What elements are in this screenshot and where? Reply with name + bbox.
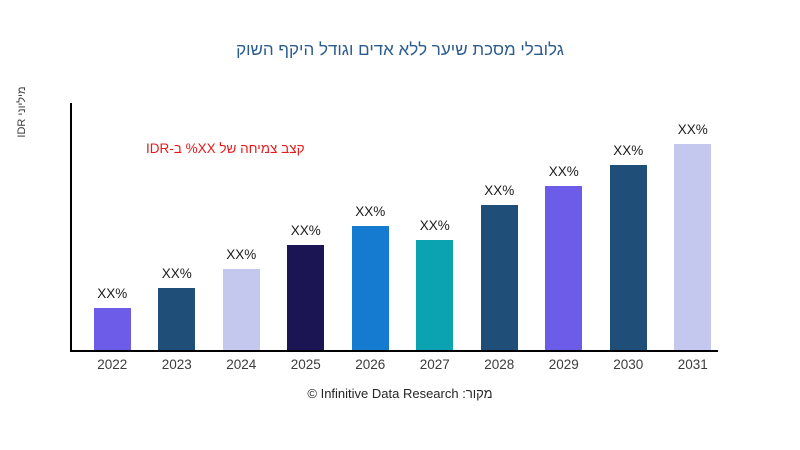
x-tick-2030: 2030: [598, 357, 658, 372]
x-tick-2029: 2029: [534, 357, 594, 372]
x-tick-2028: 2028: [469, 357, 529, 372]
bar-2030: [610, 165, 647, 350]
bar-value-label-2029: XX%: [534, 164, 594, 179]
bar-value-label-2027: XX%: [405, 218, 465, 233]
x-tick-2031: 2031: [663, 357, 723, 372]
x-tick-2027: 2027: [405, 357, 465, 372]
bar-2027: [416, 240, 453, 350]
bar-2026: [352, 226, 389, 350]
bar-2029: [545, 186, 582, 351]
bar-value-label-2030: XX%: [598, 143, 658, 158]
bar-value-label-2023: XX%: [147, 266, 207, 281]
bar-2028: [481, 205, 518, 350]
x-tick-2022: 2022: [82, 357, 142, 372]
bar-2022: [94, 308, 131, 350]
bar-value-label-2028: XX%: [469, 183, 529, 198]
bar-value-label-2025: XX%: [276, 223, 336, 238]
bar-2024: [223, 269, 260, 350]
bar-value-label-2024: XX%: [211, 247, 271, 262]
bar-2023: [158, 288, 195, 350]
plot-area: XX%2022XX%2023XX%2024XX%2025XX%2026XX%20…: [0, 0, 800, 450]
bar-value-label-2022: XX%: [82, 286, 142, 301]
x-tick-2025: 2025: [276, 357, 336, 372]
source-note: מקור: Infinitive Data Research ©: [0, 386, 800, 401]
bar-2031: [674, 144, 711, 350]
x-tick-2026: 2026: [340, 357, 400, 372]
bar-value-label-2026: XX%: [340, 204, 400, 219]
bar-2025: [287, 245, 324, 350]
bar-value-label-2031: XX%: [663, 122, 723, 137]
chart-container: גלובלי מסכת שיער ללא אדים וגודל היקף השו…: [0, 0, 800, 450]
x-tick-2024: 2024: [211, 357, 271, 372]
x-tick-2023: 2023: [147, 357, 207, 372]
